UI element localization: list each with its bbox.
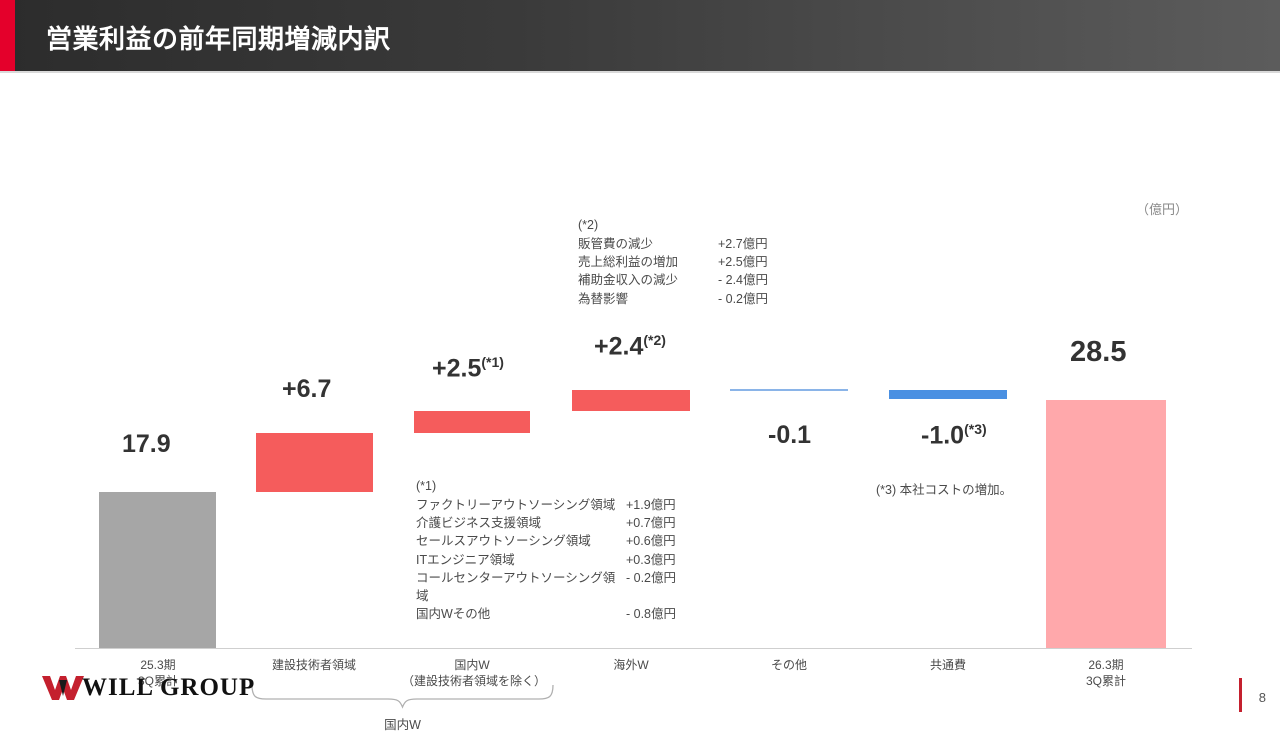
chart-unit-label: （億円） [1136,199,1188,218]
footnote-1-row: ITエンジニア領域 +0.3億円 [416,551,706,569]
footnote-2-row: 為替影響 - 0.2億円 [578,290,798,308]
page-number: 8 [1259,690,1266,705]
bar-26-3-total [1046,400,1166,648]
bar-other [730,389,848,391]
category-label-26-3: 26.3期 3Q累計 [1046,657,1166,689]
footnote-1-row: コールセンターアウトソーシング領域 - 0.2億円 [416,569,706,605]
value-label-common-cost: -1.0(*3) [921,421,987,450]
value-footnote-ref: (*2) [643,332,666,348]
footnote-item-value: +1.9億円 [626,496,706,514]
footnote-2-row: 販管費の減少 +2.7億円 [578,235,798,253]
footnote-item-value: - 0.2億円 [718,290,798,308]
category-line: 建設技術者領域 [254,657,374,673]
bar-common-cost [889,390,1007,399]
footnote-item-name: ファクトリーアウトソーシング領域 [416,496,626,514]
category-line: 国内W [402,657,542,673]
slide-header: 営業利益の前年同期増減内訳 [0,0,1280,71]
value-label-construction: +6.7 [282,375,331,404]
footnote-2: (*2) 販管費の減少 +2.7億円 売上総利益の増加 +2.5億円 補助金収入… [578,216,798,308]
value-text: 17.9 [122,430,171,458]
footnote-item-value: +2.7億円 [718,235,798,253]
will-group-logo-text: WILL GROUP [82,674,255,702]
value-footnote-ref: (*1) [481,354,504,370]
footnote-1-title: (*1) [416,477,706,495]
value-label-25-3-total: 17.9 [122,430,171,459]
footnote-item-value: +0.6億円 [626,532,706,550]
category-line: その他 [729,657,849,673]
header-accent-bar [0,0,15,71]
footnote-1: (*1) ファクトリーアウトソーシング領域 +1.9億円 介護ビジネス支援領域 … [416,477,706,623]
group-brace-label: 国内W [250,714,555,733]
bar-25-3-total [99,492,216,648]
footnote-3: (*3) 本社コストの増加。 [876,481,1012,499]
footnote-item-name: ITエンジニア領域 [416,551,626,569]
category-label-other: その他 [729,657,849,673]
footnote-1-row: セールスアウトソーシング領域 +0.6億円 [416,532,706,550]
footnote-item-value: - 0.2億円 [626,569,706,605]
footnote-item-name: 国内Wその他 [416,605,626,623]
bar-construction [256,433,373,492]
value-text: +2.4 [594,332,643,360]
value-label-overseas-w: +2.4(*2) [594,332,666,361]
value-label-26-3-total: 28.5 [1070,336,1126,369]
category-label-construction: 建設技術者領域 [254,657,374,673]
category-line: 3Q累計 [1046,673,1166,689]
bar-domestic-w [414,411,530,433]
footnote-item-name: コールセンターアウトソーシング領域 [416,569,626,605]
footnote-item-value: - 2.4億円 [718,271,798,289]
footnote-1-row: 国内Wその他 - 0.8億円 [416,605,706,623]
value-text: 28.5 [1070,336,1126,368]
category-line: 海外W [571,657,691,673]
value-text: -1.0 [921,421,964,449]
value-text: -0.1 [768,421,811,449]
footnote-item-name: 売上総利益の増加 [578,253,718,271]
page-number-rule [1239,678,1242,712]
footnote-2-title: (*2) [578,216,798,234]
category-label-overseas-w: 海外W [571,657,691,673]
footnote-item-name: 介護ビジネス支援領域 [416,514,626,532]
footnote-item-name: 販管費の減少 [578,235,718,253]
footnote-2-row: 売上総利益の増加 +2.5億円 [578,253,798,271]
category-line: 共通費 [888,657,1008,673]
footnote-item-name: 補助金収入の減少 [578,271,718,289]
footnote-item-name: 為替影響 [578,290,718,308]
value-label-other: -0.1 [768,421,811,450]
category-label-common-cost: 共通費 [888,657,1008,673]
footnote-1-row: ファクトリーアウトソーシング領域 +1.9億円 [416,496,706,514]
footnote-2-row: 補助金収入の減少 - 2.4億円 [578,271,798,289]
footnote-item-value: +2.5億円 [718,253,798,271]
value-footnote-ref: (*3) [964,421,987,437]
footnote-item-value: - 0.8億円 [626,605,706,623]
value-text: +6.7 [282,375,331,403]
waterfall-chart: （億円） 17.9 +6.7 +2.5(*1) +2.4(*2) -0.1 -1… [0,71,1280,720]
category-line: 26.3期 [1046,657,1166,673]
chart-axis-baseline [75,648,1192,649]
footnote-item-value: +0.7億円 [626,514,706,532]
footnote-item-name: セールスアウトソーシング領域 [416,532,626,550]
page-title: 営業利益の前年同期増減内訳 [46,19,391,56]
footnote-item-value: +0.3億円 [626,551,706,569]
footnote-1-row: 介護ビジネス支援領域 +0.7億円 [416,514,706,532]
bar-overseas-w [572,390,690,411]
group-brace-icon [250,683,555,709]
value-text: +2.5 [432,354,481,382]
value-label-domestic-w: +2.5(*1) [432,354,504,383]
